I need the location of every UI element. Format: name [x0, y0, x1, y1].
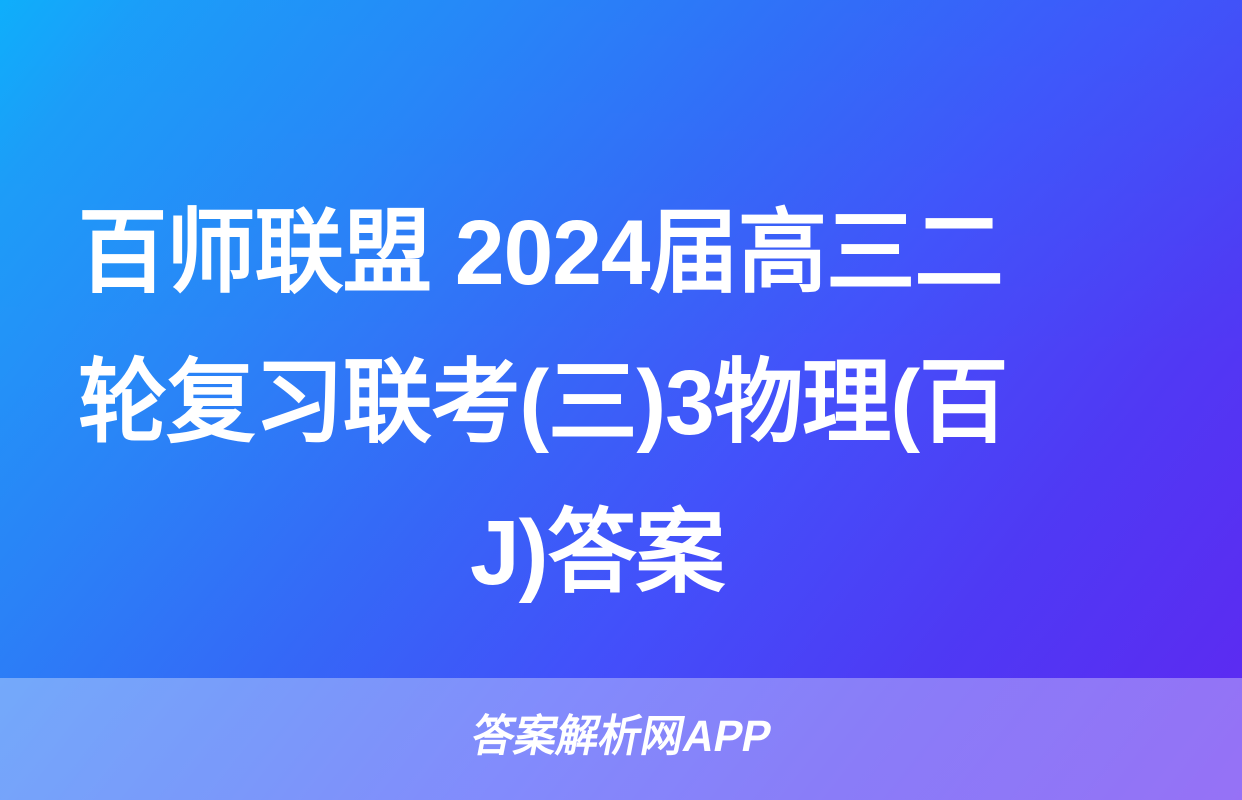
page-title: 百师联盟 2024届高三二 轮复习联考(三)3物理(百 J)答案	[78, 178, 1168, 628]
title-line-3: J)答案	[78, 478, 1135, 628]
title-line-1: 百师联盟 2024届高三二	[78, 178, 1135, 328]
title-text: 百师联盟 2024届高三二 轮复习联考(三)3物理(百 J)答案	[78, 178, 1135, 628]
watermark-band: 答案解析网APP	[0, 678, 1242, 800]
watermark-text: 答案解析网APP	[467, 715, 774, 763]
title-line-2: 轮复习联考(三)3物理(百	[78, 328, 1135, 478]
cover-card: 百师联盟 2024届高三二 轮复习联考(三)3物理(百 J)答案 答案解析网AP…	[0, 0, 1242, 800]
